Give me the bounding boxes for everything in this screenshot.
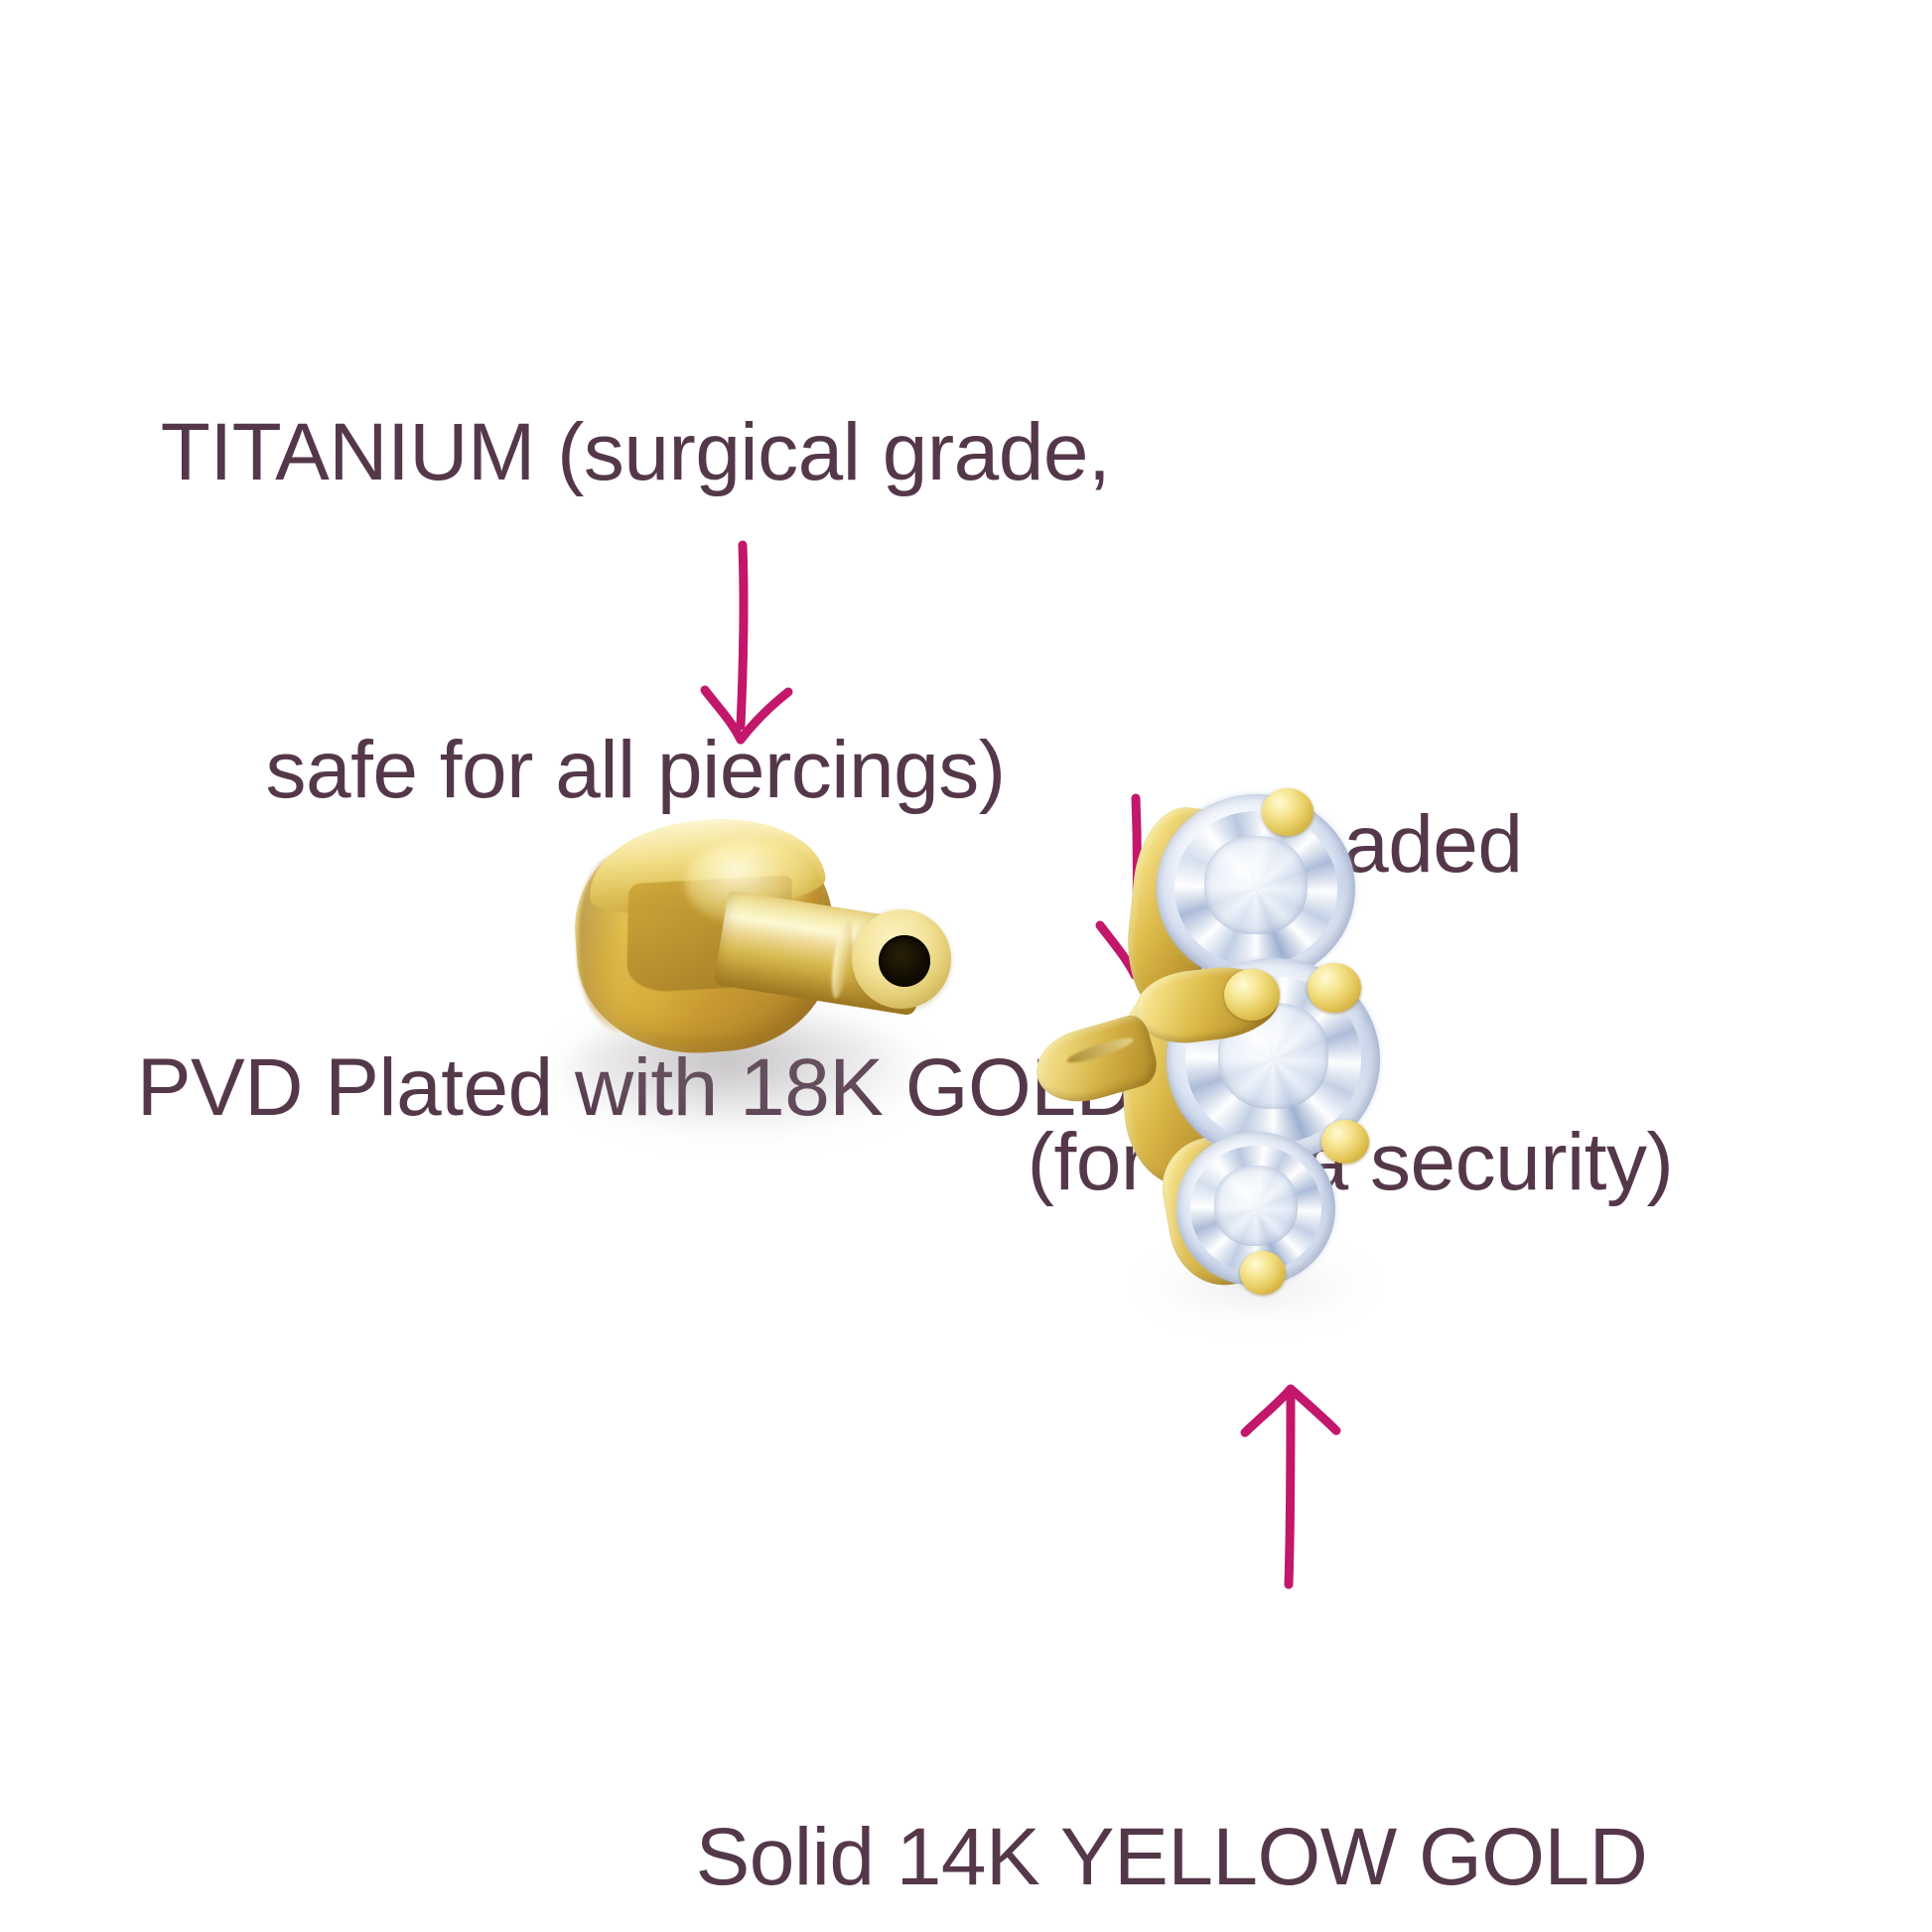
gold-prong-bead-4 (1321, 1120, 1369, 1164)
diamond-stone-top (1157, 794, 1355, 983)
gold-prong-bead-3 (1308, 963, 1361, 1013)
gold-callout-text: Solid 14K YELLOW GOLD (nickel-free, hypo… (477, 1593, 1866, 1932)
gold-prong-bead-5 (1240, 1251, 1286, 1295)
labret-post-bore-hole (879, 935, 930, 987)
gold-line-1: Solid 14K YELLOW GOLD (477, 1805, 1866, 1911)
gold-prong-bead-2 (1224, 969, 1280, 1021)
gold-prong-bead-1 (1262, 788, 1313, 836)
arrow-up-icon-gold (1211, 1385, 1390, 1588)
three-stone-cluster-image (1028, 784, 1454, 1400)
labret-post-image (536, 784, 1003, 1142)
product-infographic-canvas: TITANIUM (surgical grade, safe for all p… (0, 0, 1932, 1932)
titanium-line-1: TITANIUM (surgical grade, (0, 400, 1271, 506)
